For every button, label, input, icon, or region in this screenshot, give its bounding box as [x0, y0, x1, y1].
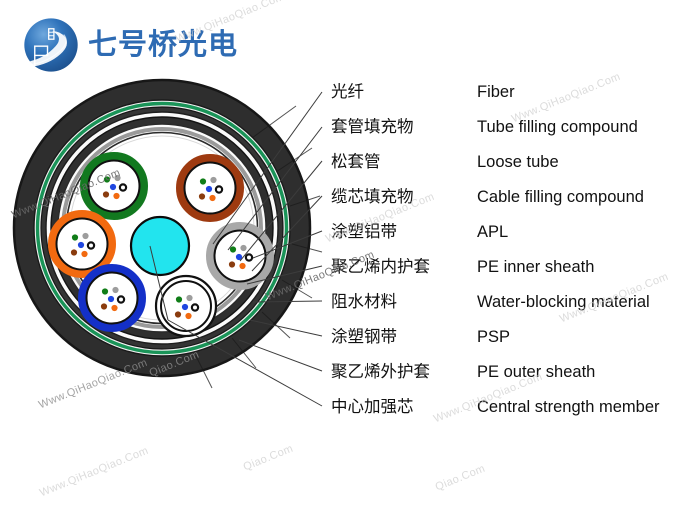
loose-tube-orange	[52, 214, 112, 274]
watermark: Qiao.Com	[434, 463, 487, 494]
globe-bridge-logo-icon	[22, 16, 80, 74]
legend-item-1-en: Tube filling compound	[477, 110, 638, 144]
legend-item-4-cn: 涂塑铝带	[331, 215, 397, 249]
legend-item-6-en: Water-blocking material	[477, 285, 650, 319]
page-root: 七号桥光电	[0, 0, 678, 505]
central-strength-member	[131, 217, 189, 275]
legend-item-3-cn: 缆芯填充物	[331, 180, 414, 214]
legend-item-8-en: PE outer sheath	[477, 355, 595, 389]
watermark: Qiao.Com	[242, 443, 295, 474]
legend-item-2-en: Loose tube	[477, 145, 559, 179]
watermark: Www.QiHaoQiao.Com	[38, 445, 150, 500]
legend-item-0-en: Fiber	[477, 75, 515, 109]
loose-tube-gray	[210, 226, 270, 286]
legend-item-0-cn: 光纤	[331, 75, 364, 109]
loose-tube-brown	[180, 158, 240, 218]
loose-tube-blue	[82, 268, 142, 328]
legend-item-2-cn: 松套管	[331, 145, 381, 179]
legend-item-7-cn: 涂塑钢带	[331, 320, 397, 354]
legend-item-9-cn: 中心加强芯	[331, 390, 414, 424]
cable-cross-section-diagram	[0, 76, 330, 406]
loose-tube-green	[84, 156, 144, 216]
legend-item-7-en: PSP	[477, 320, 510, 354]
legend-item-4-en: APL	[477, 215, 508, 249]
legend-item-8-cn: 聚乙烯外护套	[331, 355, 430, 389]
brand-logo: 七号桥光电	[22, 14, 252, 76]
legend-item-5-en: PE inner sheath	[477, 250, 594, 284]
legend-item-5-cn: 聚乙烯内护套	[331, 250, 430, 284]
brand-name-cn: 七号桥光电	[88, 24, 238, 64]
loose-tube-white	[156, 276, 216, 336]
legend-item-9-en: Central strength member	[477, 390, 660, 424]
legend-item-3-en: Cable filling compound	[477, 180, 644, 214]
legend-item-1-cn: 套管填充物	[331, 110, 414, 144]
legend-item-6-cn: 阻水材料	[331, 285, 397, 319]
